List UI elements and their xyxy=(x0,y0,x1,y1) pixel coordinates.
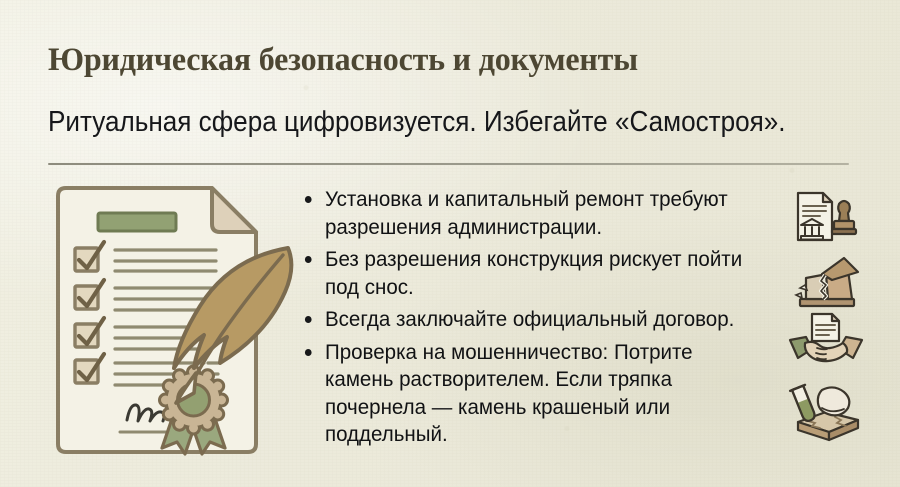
list-item: Установка и капитальный ремонт требуют р… xyxy=(303,186,766,241)
bullet-list: Установка и капитальный ремонт требуют р… xyxy=(303,186,788,454)
contract-handshake-icon xyxy=(786,312,866,366)
page-title: Юридическая безопасность и документы xyxy=(48,40,638,80)
list-item: Всегда заключайте официальный договор. xyxy=(303,306,766,334)
permit-stamp-icon xyxy=(792,188,864,250)
list-item: Проверка на мошенничество: Потрите камен… xyxy=(303,339,766,449)
slide-root: Юридическая безопасность и документы Рит… xyxy=(0,0,900,487)
demolished-house-icon xyxy=(792,256,864,314)
signed-document-illustration xyxy=(44,182,306,464)
page-subtitle: Ритуальная сфера цифровизуется. Избегайт… xyxy=(48,104,786,140)
header-divider xyxy=(48,163,849,165)
solvent-test-icon xyxy=(788,378,868,448)
list-item: Без разрешения конструкция рискует пойти… xyxy=(303,246,766,301)
